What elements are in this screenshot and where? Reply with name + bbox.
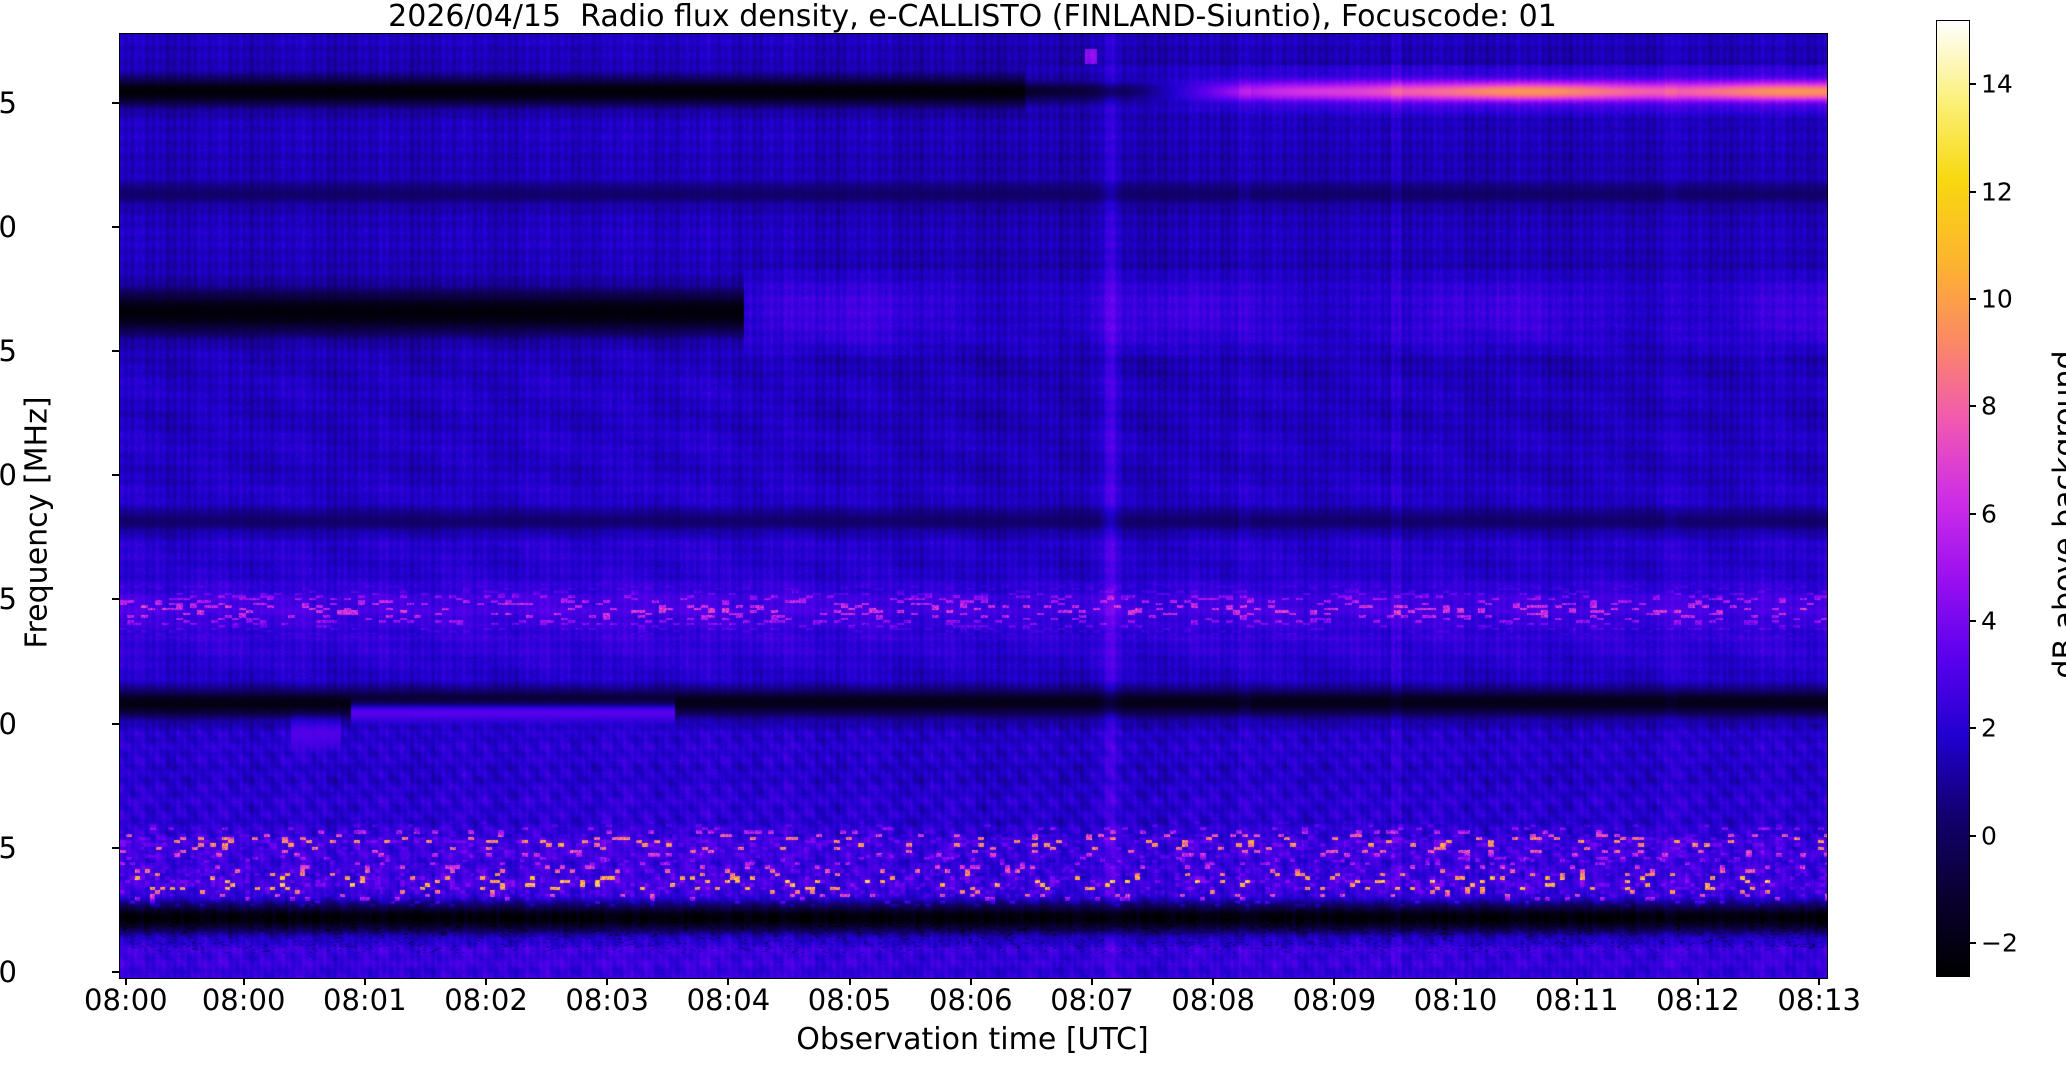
y-tick-mark [112, 847, 119, 849]
x-tick-label: 08:05 [808, 983, 892, 1017]
y-tick-label: 100 [0, 955, 17, 989]
y-axis-label: Frequency [MHz] [20, 293, 55, 753]
x-tick-mark [364, 978, 366, 985]
x-tick-mark [125, 978, 127, 985]
colorbar-tick-label: 8 [1981, 392, 1997, 421]
colorbar [1936, 20, 1970, 977]
colorbar-tick-mark [1969, 513, 1976, 515]
x-tick-label: 08:00 [84, 983, 168, 1017]
x-tick-mark [1091, 978, 1093, 985]
spectrogram-axes [119, 33, 1828, 979]
spectrogram-image [120, 34, 1827, 978]
colorbar-tick-label: 6 [1981, 499, 1997, 528]
colorbar-tick-mark [1969, 942, 1976, 944]
x-tick-label: 08:13 [1777, 983, 1861, 1017]
spectrogram-figure: 2026/04/15 Radio flux density, e-CALLIST… [0, 0, 2066, 1067]
x-tick-label: 08:10 [1414, 983, 1498, 1017]
colorbar-tick-label: 10 [1981, 284, 2013, 313]
x-tick-label: 08:11 [1535, 983, 1619, 1017]
colorbar-tick-label: 12 [1981, 177, 2013, 206]
y-tick-label: 275 [0, 86, 17, 120]
y-tick-mark [112, 350, 119, 352]
colorbar-tick-mark [1969, 405, 1976, 407]
x-tick-mark [243, 978, 245, 985]
y-tick-mark [112, 226, 119, 228]
x-tick-label: 08:09 [1293, 983, 1377, 1017]
x-tick-mark [849, 978, 851, 985]
x-tick-label: 08:04 [687, 983, 771, 1017]
colorbar-tick-label: 2 [1981, 714, 1997, 743]
x-tick-label: 08:02 [444, 983, 528, 1017]
colorbar-tick-mark [1969, 620, 1976, 622]
y-tick-label: 175 [0, 582, 17, 616]
colorbar-tick-label: −2 [1981, 928, 2018, 957]
x-tick-label: 08:07 [1050, 983, 1134, 1017]
y-tick-label: 150 [0, 707, 17, 741]
y-tick-label: 250 [0, 210, 17, 244]
x-tick-mark [1455, 978, 1457, 985]
x-tick-label: 08:12 [1656, 983, 1740, 1017]
x-tick-label: 08:00 [202, 983, 286, 1017]
colorbar-gradient [1937, 21, 1969, 976]
y-tick-label: 200 [0, 458, 17, 492]
colorbar-tick-label: 4 [1981, 606, 1997, 635]
x-tick-mark [727, 978, 729, 985]
colorbar-tick-mark [1969, 83, 1976, 85]
y-tick-mark [112, 598, 119, 600]
x-axis-label: Observation time [UTC] [119, 1022, 1826, 1057]
colorbar-tick-mark [1969, 191, 1976, 193]
colorbar-label: dB above background [2048, 285, 2066, 745]
y-tick-label: 125 [0, 831, 17, 865]
x-tick-label: 08:08 [1171, 983, 1255, 1017]
x-tick-mark [1576, 978, 1578, 985]
x-tick-mark [1333, 978, 1335, 985]
colorbar-tick-label: 0 [1981, 821, 1997, 850]
colorbar-tick-mark [1969, 298, 1976, 300]
page-title: 2026/04/15 Radio flux density, e-CALLIST… [119, 2, 1826, 32]
colorbar-tick-mark [1969, 835, 1976, 837]
y-tick-mark [112, 723, 119, 725]
x-tick-mark [606, 978, 608, 985]
y-tick-mark [112, 474, 119, 476]
y-tick-label: 225 [0, 334, 17, 368]
x-tick-mark [485, 978, 487, 985]
colorbar-tick-mark [1969, 727, 1976, 729]
x-tick-mark [1818, 978, 1820, 985]
y-tick-mark [112, 102, 119, 104]
x-tick-label: 08:01 [323, 983, 407, 1017]
x-tick-mark [1697, 978, 1699, 985]
x-tick-label: 08:06 [929, 983, 1013, 1017]
x-tick-label: 08:03 [565, 983, 649, 1017]
y-tick-mark [112, 971, 119, 973]
x-tick-mark [1212, 978, 1214, 985]
x-tick-mark [970, 978, 972, 985]
colorbar-tick-label: 14 [1981, 70, 2013, 99]
